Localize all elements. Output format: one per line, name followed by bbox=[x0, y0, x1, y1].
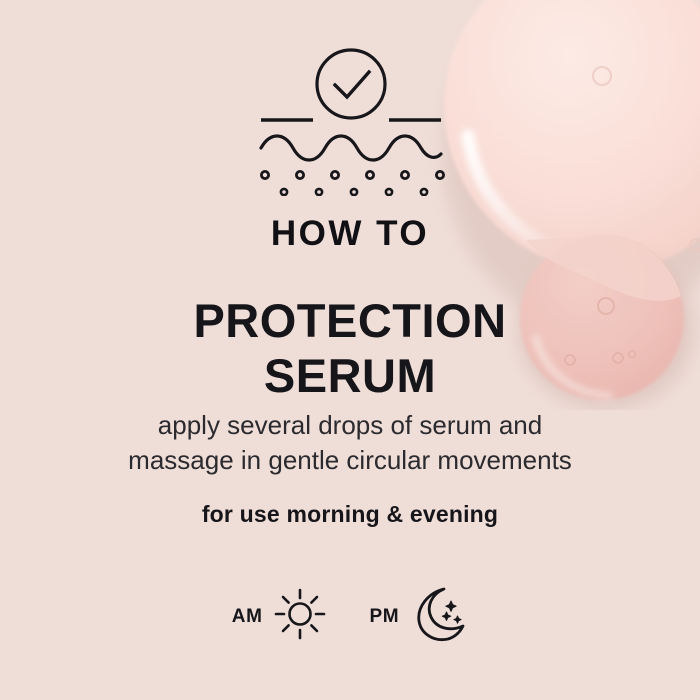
time-of-day-row: AM PM bbox=[0, 578, 700, 654]
product-name-line-1: PROTECTION bbox=[0, 294, 700, 349]
star-icon bbox=[446, 601, 456, 611]
skin-dot bbox=[296, 171, 303, 178]
check-icon bbox=[335, 72, 369, 97]
page-title: PROTECTION SERUM bbox=[0, 294, 700, 403]
skin-dot bbox=[351, 189, 357, 195]
skin-dot bbox=[436, 171, 443, 178]
skin-dot bbox=[366, 171, 373, 178]
instructions-line-2: massage in gentle circular movements bbox=[0, 443, 700, 478]
moon-icon bbox=[410, 585, 468, 648]
instructions-text: apply several drops of serum and massage… bbox=[0, 408, 700, 479]
poster-canvas: HOW TO PROTECTION SERUM apply several dr… bbox=[0, 0, 700, 700]
skin-wave-line bbox=[261, 136, 441, 160]
kicker-how-to: HOW TO bbox=[0, 216, 700, 251]
skin-dot bbox=[401, 171, 408, 178]
instructions-line-1: apply several drops of serum and bbox=[0, 408, 700, 443]
sun-icon bbox=[274, 588, 326, 645]
time-of-day-am: AM bbox=[232, 588, 326, 645]
product-name-line-2: SERUM bbox=[0, 349, 700, 404]
skin-dot bbox=[421, 189, 427, 195]
check-circle-icon bbox=[317, 50, 385, 118]
blob-shadow bbox=[443, 0, 700, 328]
time-of-day-pm: PM bbox=[370, 585, 469, 648]
skin-dot bbox=[281, 189, 287, 195]
star-icon bbox=[443, 612, 451, 620]
skin-protection-icon bbox=[251, 44, 451, 196]
pm-label: PM bbox=[370, 607, 400, 626]
skin-dot bbox=[316, 189, 322, 195]
am-label: AM bbox=[232, 607, 263, 626]
skin-dot bbox=[261, 171, 268, 178]
star-icon bbox=[454, 616, 461, 623]
skin-dot bbox=[331, 171, 338, 178]
skin-dot bbox=[386, 189, 392, 195]
usage-note: for use morning & evening bbox=[0, 503, 700, 526]
bubble-ring bbox=[593, 67, 611, 85]
